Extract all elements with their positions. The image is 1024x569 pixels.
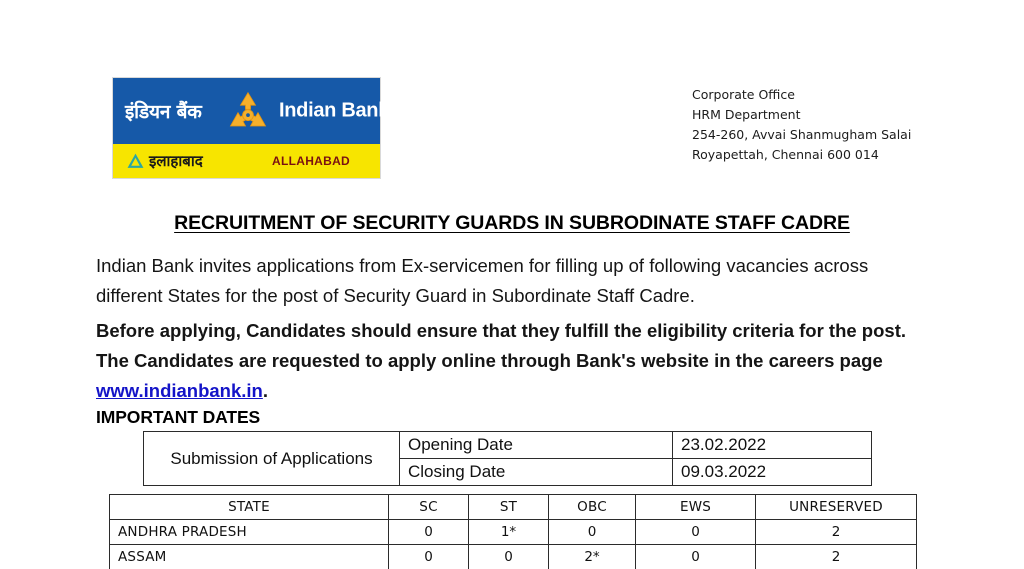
cell-ews: 0 [636,520,756,545]
cell-sc: 0 [389,545,469,569]
table-row: ASSAM 0 0 2* 0 2 [110,545,917,569]
cell-obc: 2* [549,545,636,569]
corporate-address: Corporate Office HRM Department 254-260,… [692,85,911,165]
logo-english-name: Indian Bank [279,100,389,123]
bank-emblem-icon [227,91,269,131]
opening-date-label: Opening Date [400,432,673,459]
table-row: ANDHRA PRADESH 0 1* 0 0 2 [110,520,917,545]
submission-label-cell: Submission of Applications [144,432,400,486]
logo-english-subname: ALLAHABAD [272,154,350,168]
address-line-2: HRM Department [692,105,911,125]
closing-date-label: Closing Date [400,459,673,486]
table-header-row: STATE SC ST OBC EWS UNRESERVED [110,495,917,520]
cell-sc: 0 [389,520,469,545]
vacancy-table: STATE SC ST OBC EWS UNRESERVED ANDHRA PR… [109,494,917,569]
table-row: Submission of Applications Opening Date … [144,432,872,459]
cell-unreserved: 2 [756,545,917,569]
cell-obc: 0 [549,520,636,545]
eligibility-text-after-link: . [263,380,268,401]
address-line-1: Corporate Office [692,85,911,105]
header-ews: EWS [636,495,756,520]
address-line-3: 254-260, Avvai Shanmugham Salai [692,125,911,145]
document-page: इंडियन बैंक Indian Bank [0,0,1024,569]
cell-state: ANDHRA PRADESH [110,520,389,545]
intro-paragraph: Indian Bank invites applications from Ex… [96,251,924,311]
header-unreserved: UNRESERVED [756,495,917,520]
header-obc: OBC [549,495,636,520]
cell-st: 1* [469,520,549,545]
page-title: RECRUITMENT OF SECURITY GUARDS IN SUBROD… [0,212,1024,235]
logo-hindi-subname: इलाहाबाद [149,151,203,171]
cell-state: ASSAM [110,545,389,569]
logo-yellow-band: इलाहाबाद ALLAHABAD [113,144,380,178]
eligibility-text-before-link: Before applying, Candidates should ensur… [96,320,906,371]
indian-bank-logo: इंडियन बैंक Indian Bank [113,78,380,178]
closing-date-value: 09.03.2022 [673,459,872,486]
allahabad-triangle-icon [127,153,144,169]
indianbank-website-link[interactable]: www.indianbank.in [96,380,263,401]
cell-st: 0 [469,545,549,569]
header-st: ST [469,495,549,520]
header-sc: SC [389,495,469,520]
cell-unreserved: 2 [756,520,917,545]
important-dates-heading: IMPORTANT DATES [96,407,260,428]
cell-ews: 0 [636,545,756,569]
eligibility-paragraph: Before applying, Candidates should ensur… [96,316,924,406]
logo-hindi-name: इंडियन बैंक [125,98,202,124]
page-title-text: RECRUITMENT OF SECURITY GUARDS IN SUBROD… [174,212,850,234]
important-dates-table: Submission of Applications Opening Date … [143,431,872,486]
address-line-4: Royapettah, Chennai 600 014 [692,145,911,165]
header-state: STATE [110,495,389,520]
logo-blue-band: इंडियन बैंक Indian Bank [113,78,380,144]
opening-date-value: 23.02.2022 [673,432,872,459]
